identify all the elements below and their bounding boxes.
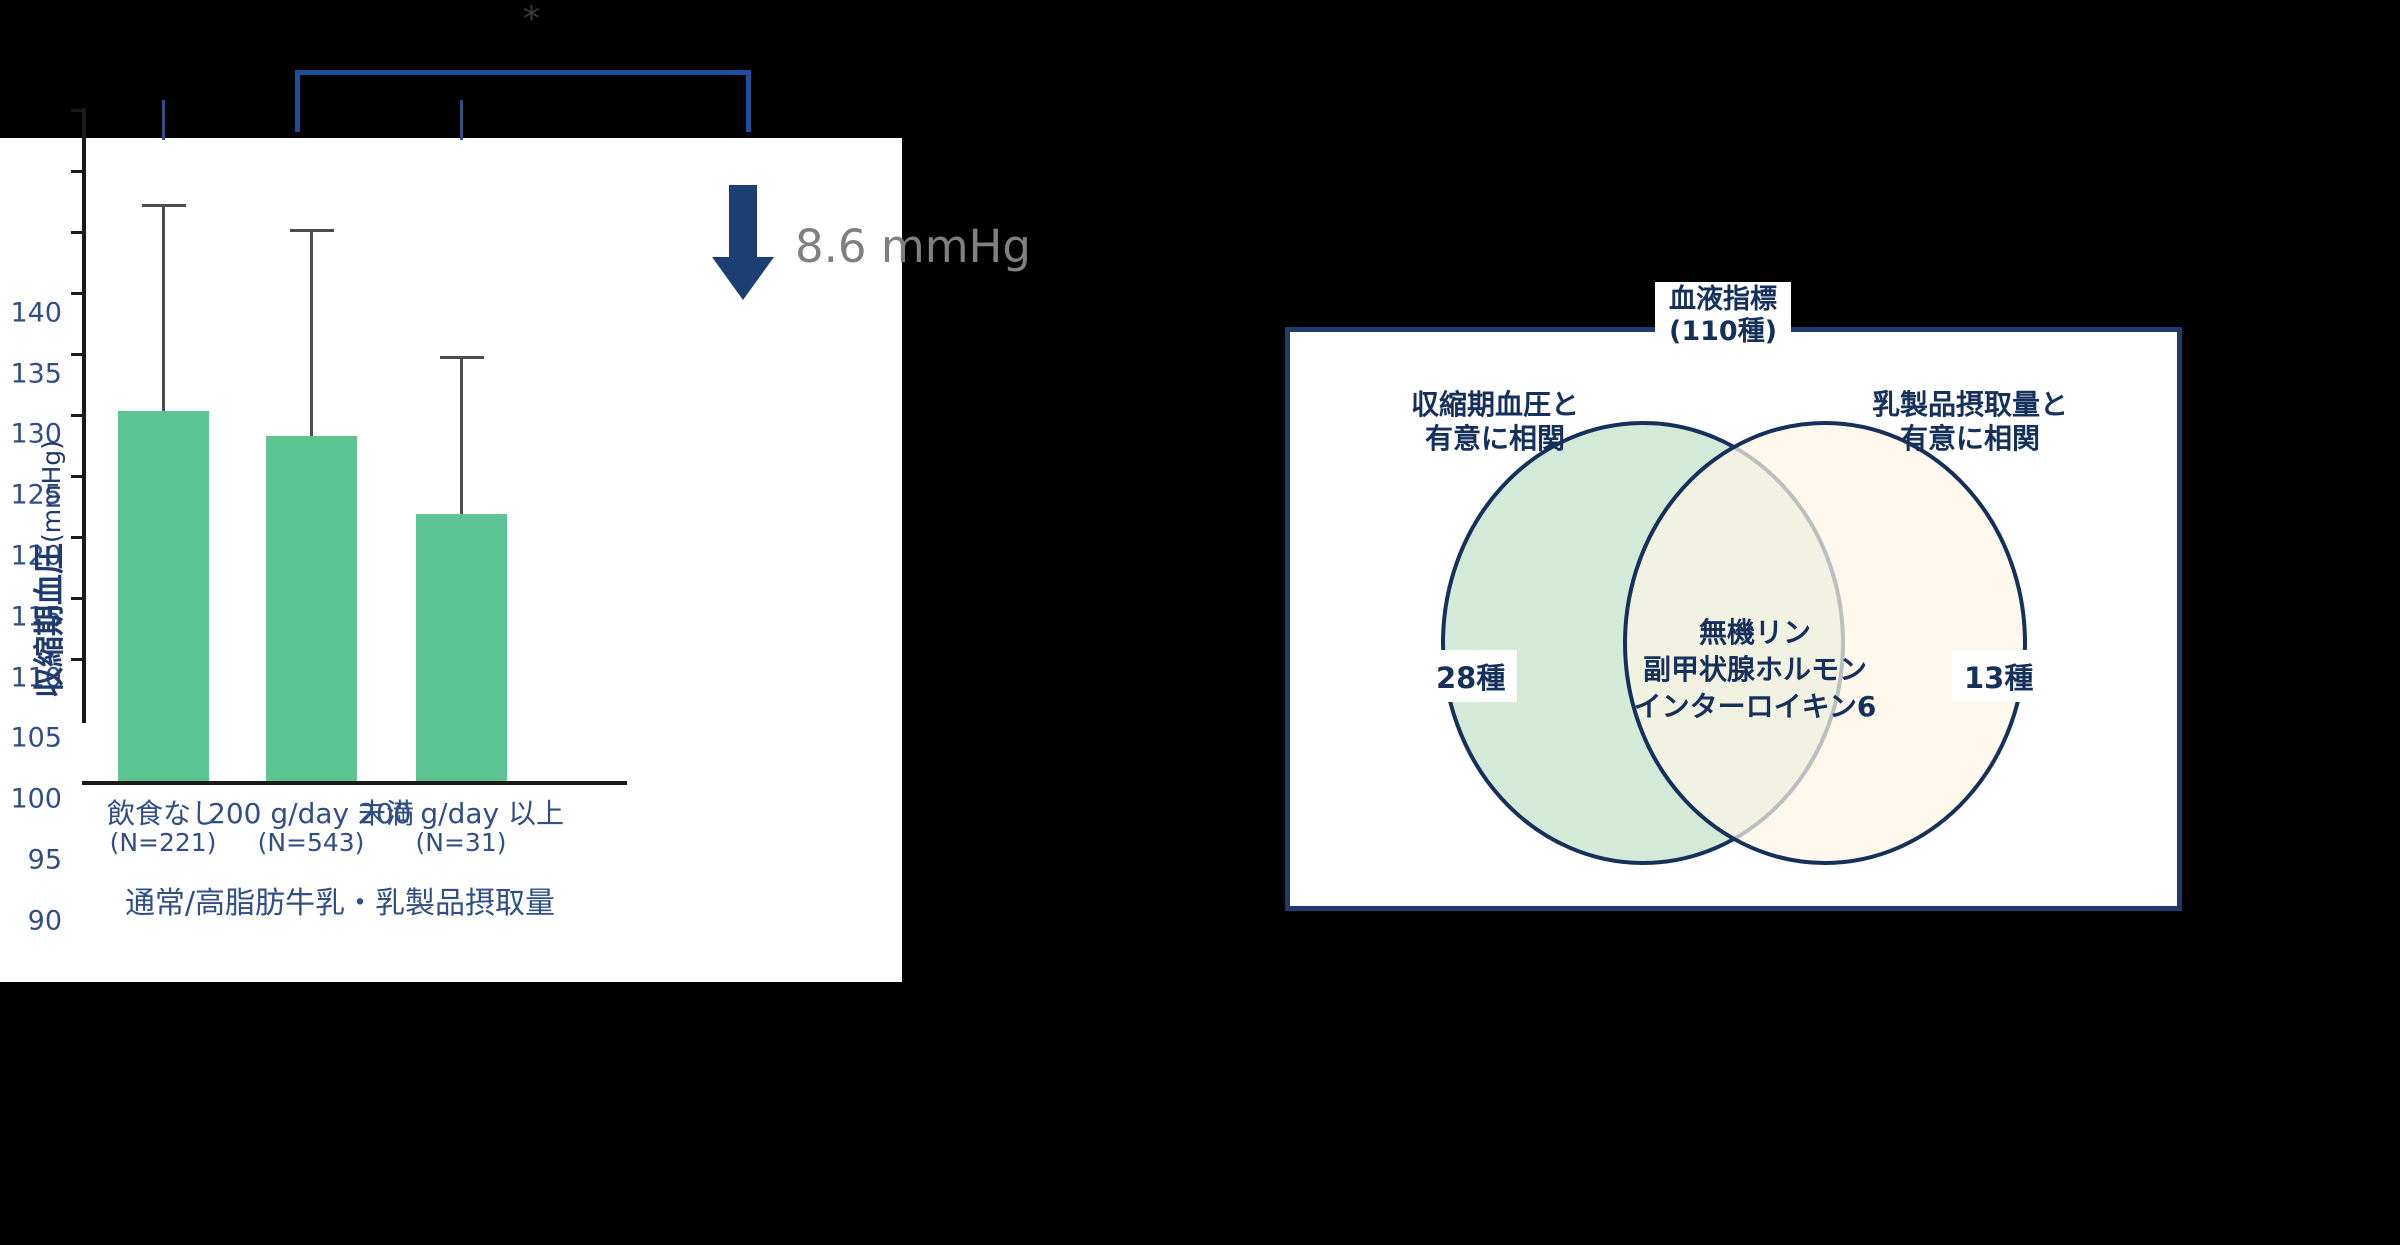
significance-asterisk: *: [523, 2, 540, 36]
tick-135: [71, 170, 82, 173]
bar-over-200g: [416, 514, 507, 781]
y-tick-135: 135: [10, 359, 62, 390]
venn-intersection-item-3: インターロイキン6: [1545, 689, 1965, 726]
venn-count-left: 28種: [1424, 650, 1517, 702]
tick-120: [71, 353, 82, 356]
bar-under-200g: [266, 436, 357, 781]
tick-115: [71, 414, 82, 417]
venn-title-line2: (110種): [1669, 316, 1777, 348]
bracket-left-leg: [295, 70, 300, 132]
x-category-3: 200 g/day 以上 (N=31): [336, 798, 586, 857]
venn-title-line1: 血液指標: [1669, 284, 1777, 316]
tick-130: [71, 231, 82, 234]
x-category-3-label: 200 g/day 以上: [336, 798, 586, 829]
errorbar-cap-1: [142, 204, 186, 207]
bar-no-intake: [118, 411, 209, 781]
y-tick-140: 140: [10, 298, 62, 329]
y-axis-title: 収縮期血圧(mmHg): [24, 440, 69, 698]
errorbar-stem-2: [310, 229, 313, 436]
bracket-horizontal-line: [295, 70, 751, 75]
errorbar-stem-3: [460, 356, 463, 514]
x-axis-title: 通常/高脂肪牛乳・乳製品摂取量: [60, 878, 620, 922]
tick-95: [71, 658, 82, 661]
errorbar-stem-1: [162, 204, 165, 411]
significance-bracket: [295, 70, 751, 132]
x-axis-line: [82, 781, 627, 785]
x-category-3-n: (N=31): [336, 829, 586, 857]
y-tick-105: 105: [10, 723, 62, 754]
venn-intersection-items: 無機リン 副甲状腺ホルモン インターロイキン6: [1545, 615, 1965, 726]
venn-caption-right: 乳製品摂取量と 有意に相関: [1830, 388, 2110, 455]
venn-caption-left-line2: 有意に相関: [1355, 422, 1635, 456]
tick-125: [71, 292, 82, 295]
venn-caption-left: 収縮期血圧と 有意に相関: [1355, 388, 1635, 455]
y-axis-title-main: 収縮期血圧: [32, 543, 68, 698]
venn-caption-right-line2: 有意に相関: [1830, 422, 2110, 456]
down-arrow-icon: [712, 185, 774, 300]
errorbar-cap-2: [290, 229, 334, 232]
venn-count-right: 13種: [1952, 650, 2045, 702]
venn-title: 血液指標 (110種): [1655, 282, 1791, 350]
y-axis-line: [82, 108, 86, 723]
y-axis-title-unit: (mmHg): [37, 440, 66, 543]
tick-110: [71, 475, 82, 478]
bracket-right-leg: [746, 70, 751, 132]
y-tick-90: 90: [28, 906, 62, 937]
venn-intersection-item-2: 副甲状腺ホルモン: [1545, 652, 1965, 689]
venn-caption-right-line1: 乳製品摂取量と: [1830, 388, 2110, 422]
tick-140: [71, 109, 82, 112]
bracket-tail-left: [162, 100, 165, 140]
venn-caption-left-line1: 収縮期血圧と: [1355, 388, 1635, 422]
errorbar-cap-3: [440, 356, 484, 359]
tick-105: [71, 536, 82, 539]
tick-100: [71, 597, 82, 600]
blood-pressure-drop-label: 8.6 mmHg: [795, 220, 1031, 273]
venn-intersection-item-1: 無機リン: [1545, 615, 1965, 652]
